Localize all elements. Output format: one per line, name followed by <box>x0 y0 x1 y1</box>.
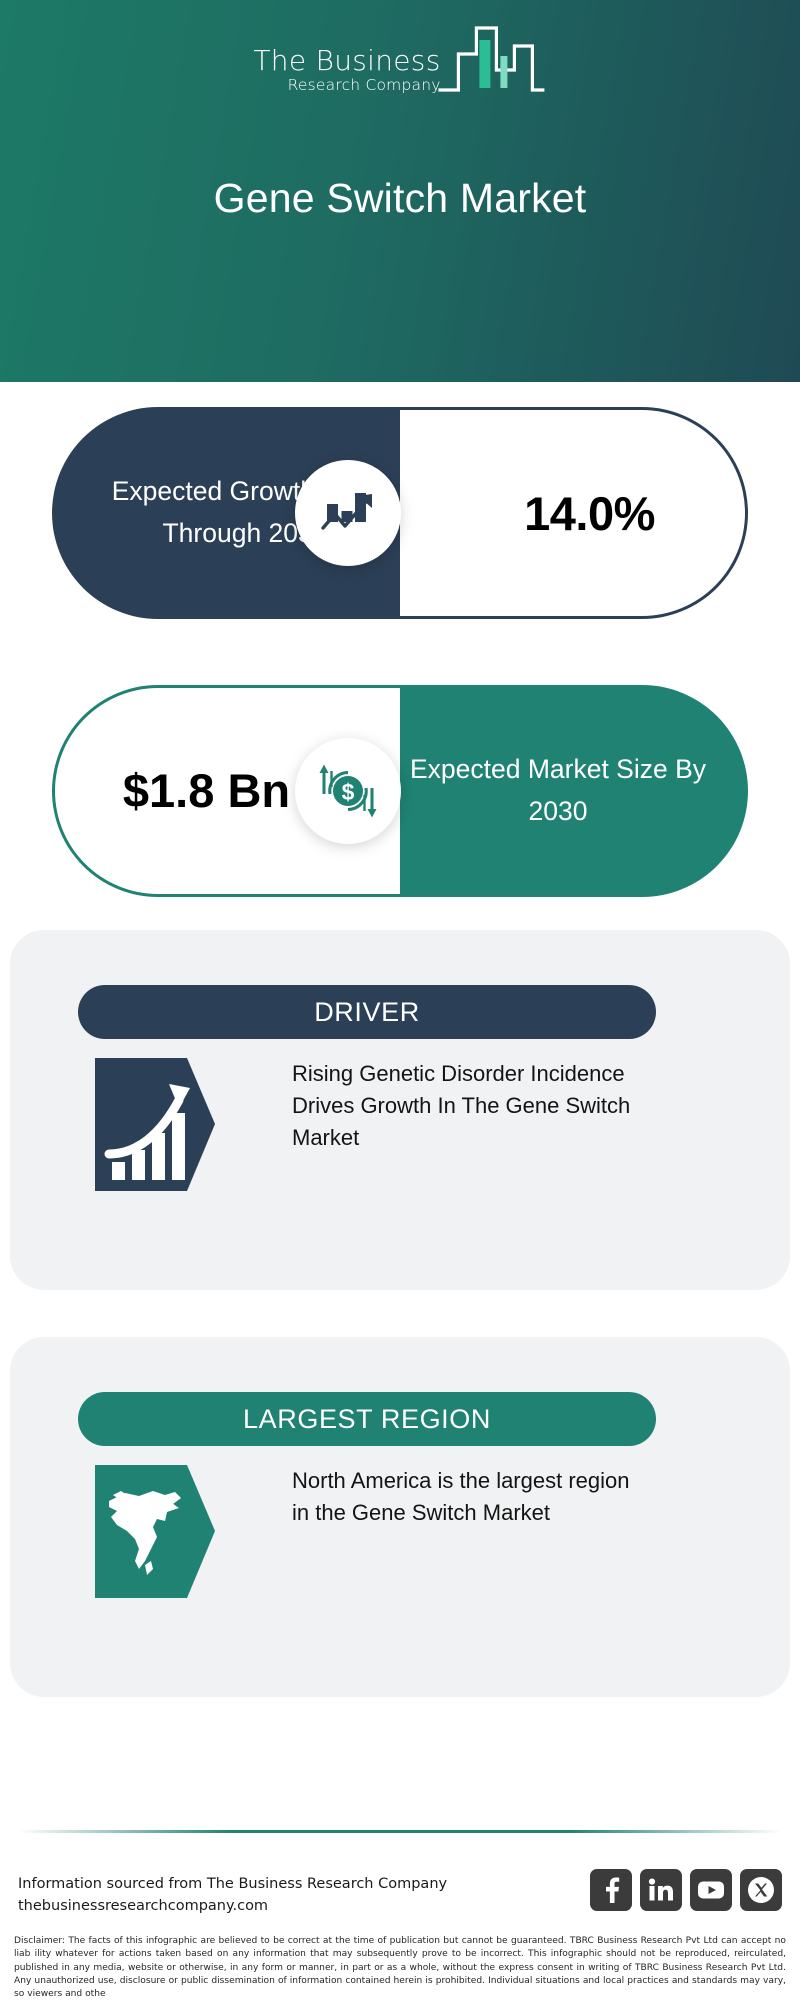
stat-size-label-panel: Expected Market Size By 2030 <box>400 685 748 897</box>
page-title: Gene Switch Market <box>0 175 800 222</box>
disclaimer-text: Disclaimer: The facts of this infographi… <box>14 1935 786 2000</box>
rising-bar-chart-arrow-icon <box>95 1058 215 1191</box>
company-logo: The Business Research Company <box>253 22 546 101</box>
growth-chart-arrow-icon <box>295 460 401 566</box>
svg-text:$: $ <box>342 779 355 805</box>
infographic-page: The Business Research Company Gene Switc… <box>0 0 800 2000</box>
disclaimer-line: use, disclosure or public dissemination … <box>14 1976 786 1999</box>
social-links <box>590 1869 782 1911</box>
footer-source: Information sourced from The Business Re… <box>18 1873 488 1918</box>
north-america-map-icon <box>95 1465 215 1598</box>
largest-region-pill: LARGEST REGION <box>78 1392 656 1446</box>
facebook-icon[interactable] <box>590 1869 632 1911</box>
logo-line-2: Research Company <box>288 76 441 95</box>
stat-growth-value: 14.0% <box>490 486 655 541</box>
x-twitter-icon[interactable] <box>740 1869 782 1911</box>
stat-growth-value-panel: 14.0% <box>400 407 748 619</box>
driver-pill-label: DRIVER <box>314 997 420 1028</box>
stat-size-label: Expected Market Size By 2030 <box>400 749 748 833</box>
driver-body-text: Rising Genetic Disorder Incidence Drives… <box>292 1058 640 1154</box>
footer-source-line-2[interactable]: thebusinessresearchcompany.com <box>18 1895 488 1917</box>
largest-region-pill-label: LARGEST REGION <box>243 1404 491 1435</box>
driver-pill: DRIVER <box>78 985 656 1039</box>
youtube-icon[interactable] <box>690 1869 732 1911</box>
bar-chart-logo-icon <box>437 22 547 99</box>
largest-region-body-text: North America is the largest region in t… <box>292 1465 640 1529</box>
footer-source-line-1: Information sourced from The Business Re… <box>18 1873 488 1895</box>
header-banner: The Business Research Company Gene Switc… <box>0 0 800 382</box>
linkedin-icon[interactable] <box>640 1869 682 1911</box>
logo-line-1: The Business <box>253 46 440 75</box>
dollar-circulation-icon: $ <box>295 738 401 844</box>
logo-wordmark: The Business Research Company <box>253 46 440 101</box>
footer-divider <box>18 1830 782 1833</box>
